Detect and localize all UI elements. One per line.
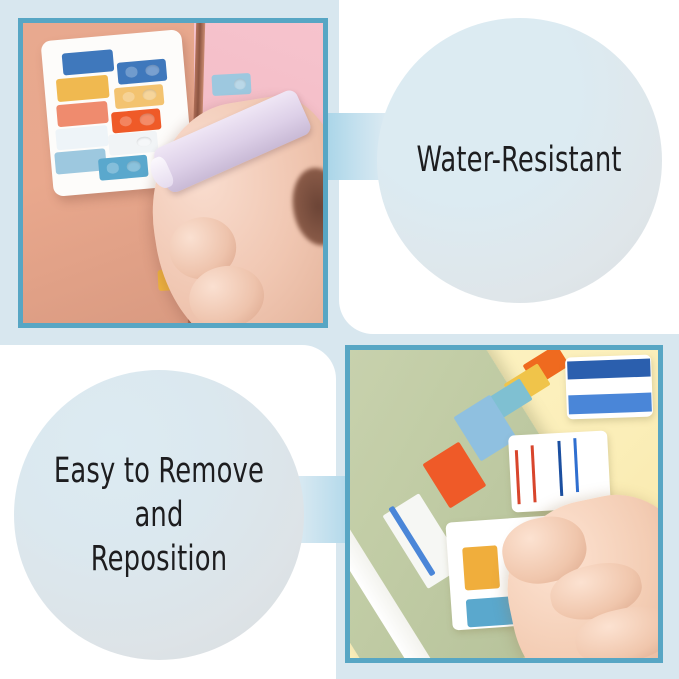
feature-label-water-resistant: Water-Resistant	[417, 138, 622, 182]
pad-chip-white	[56, 125, 109, 151]
pad-chip-amber-dotted	[114, 83, 165, 109]
feature-badge-easy-remove: Easy to Remove and Reposition	[14, 370, 304, 660]
stripe-mid-blue	[568, 393, 651, 414]
pad-chip-blue	[61, 49, 114, 76]
stripe-blue-inner	[558, 441, 564, 497]
stripe-blue-outer	[573, 438, 579, 492]
stripe-red-outer	[515, 451, 521, 505]
pad-chip-teal-dotted	[98, 155, 149, 181]
pad-chip-blue-dotted	[116, 59, 167, 85]
tab-card-blue-banded	[565, 355, 653, 420]
stripe-yellow-tab	[461, 545, 500, 590]
feature-label-easy-remove: Easy to Remove and Reposition	[40, 449, 278, 581]
infographic-canvas: Water-Resistant Easy to Remove and Repos…	[0, 0, 679, 679]
stripe-dark-blue	[566, 358, 649, 379]
pad-chip-clear	[108, 131, 159, 155]
feature-badge-water-resistant: Water-Resistant	[377, 18, 662, 303]
feature-label-line-2: Reposition	[91, 539, 227, 579]
edge-tab-light-blue	[211, 73, 251, 96]
pad-chip-salmon	[56, 100, 109, 127]
photo-writing-on-tabs	[18, 18, 328, 328]
photo-writing-on-tabs-content	[23, 23, 323, 323]
feature-label-line-1: Easy to Remove and	[54, 451, 264, 535]
stripe-red-inner	[530, 445, 536, 502]
pad-chip-yellow	[56, 75, 109, 102]
pad-chip-orange-dotted	[111, 108, 162, 134]
photo-peeling-tab	[345, 345, 663, 663]
photo-peeling-tab-content	[350, 350, 658, 658]
hand-shadow	[287, 164, 323, 248]
